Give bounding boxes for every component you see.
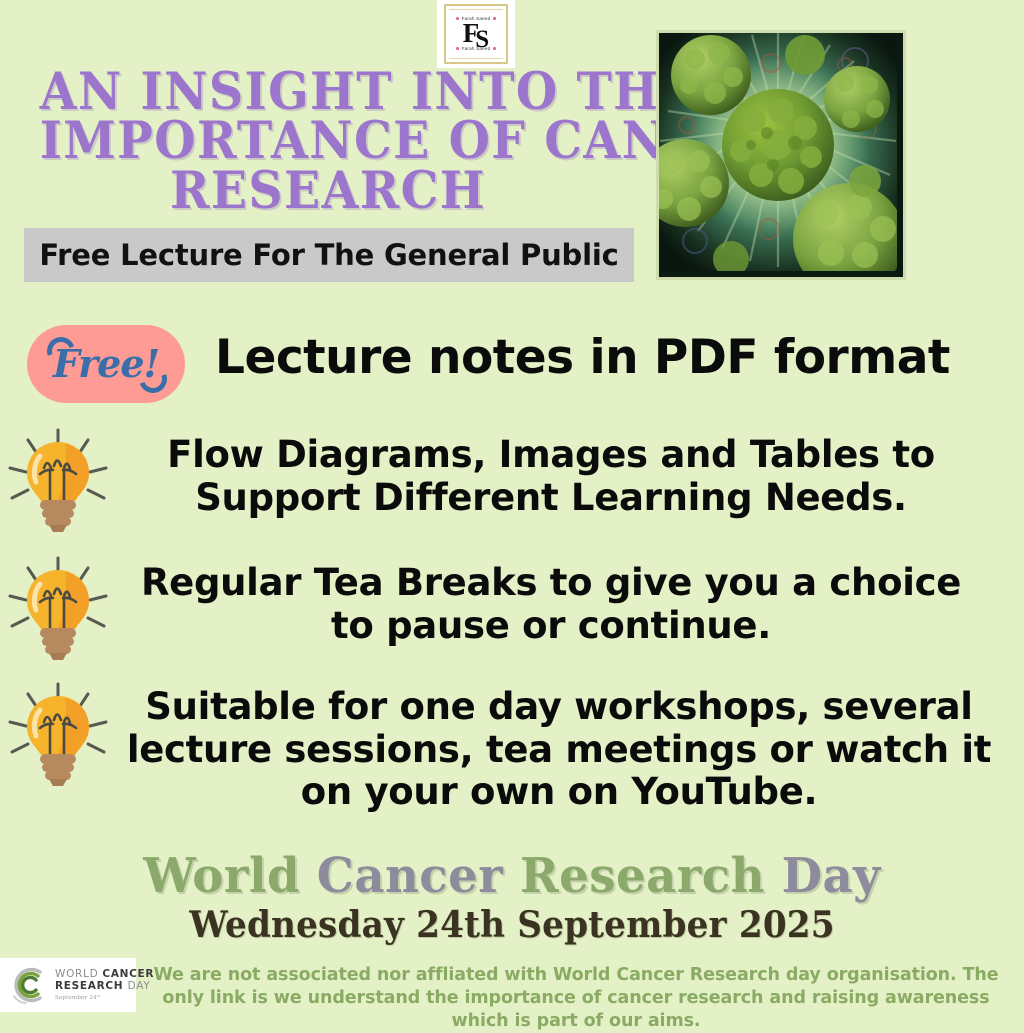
event-date: Wednesday 24th September 2025 [26, 904, 999, 946]
disclaimer-text: We are not associated nor affliated with… [136, 964, 1016, 1033]
feature-item-3: Suitable for one day workshops, several … [0, 678, 1024, 814]
subtitle-banner-text: Free Lecture For The General Public [39, 238, 618, 272]
free-badge: Free! [27, 325, 185, 403]
wcrd-c-mark-icon [6, 963, 50, 1007]
brand-logo-frame: Farah Saeed FS Farah Saeed [444, 4, 508, 64]
event-title-word-1: World [143, 848, 300, 904]
event-title-word-3: Research [520, 848, 765, 904]
brand-dot-left-bottom [456, 47, 459, 50]
feature-item-2: Regular Tea Breaks to give you a choice … [0, 552, 1024, 664]
feature-item-3-text: Suitable for one day workshops, several … [114, 678, 1024, 814]
event-title: World Cancer Research Day [15, 852, 1008, 900]
cancer-cell-illustration [656, 30, 906, 280]
page-title-line-1: An Insight Into The [40, 68, 617, 117]
brand-logo-bottom-text: Farah Saeed [453, 47, 499, 52]
brand-dot-right-bottom [493, 47, 496, 50]
page-title: An Insight Into The Importance Of Cancer… [18, 68, 638, 216]
event-title-word-2: Cancer [317, 848, 503, 904]
page-title-line-2: Importance Of Cancer [40, 117, 617, 166]
lightbulb-icon [2, 552, 114, 664]
lightbulb-icon [2, 678, 114, 790]
brand-dot-right-top [493, 17, 496, 20]
brand-dot-left-top [456, 17, 459, 20]
page-title-line-3: Research [40, 167, 617, 216]
feature-item-1-text: Flow Diagrams, Images and Tables to Supp… [114, 424, 1024, 519]
free-offer-row: Free! Lecture notes in PDF format [0, 322, 1024, 412]
brand-logo: Farah Saeed FS Farah Saeed [437, 0, 515, 68]
cancer-cell-svg [659, 33, 897, 271]
event-title-word-4: Day [782, 848, 881, 904]
lightbulb-icon [2, 424, 114, 536]
world-cancer-research-day-logo: WORLD CANCER RESEARCH DAY September 24ᵗʰ [0, 958, 136, 1012]
footer: WORLD CANCER RESEARCH DAY September 24ᵗʰ… [0, 958, 1024, 1016]
event-block: World Cancer Research Day Wednesday 24th… [0, 852, 1024, 946]
feature-item-1: Flow Diagrams, Images and Tables to Supp… [0, 424, 1024, 536]
subtitle-banner: Free Lecture For The General Public [24, 228, 634, 282]
feature-item-2-text: Regular Tea Breaks to give you a choice … [114, 552, 1024, 647]
free-offer-headline: Lecture notes in PDF format [215, 330, 950, 385]
brand-monogram: FS [463, 22, 489, 45]
